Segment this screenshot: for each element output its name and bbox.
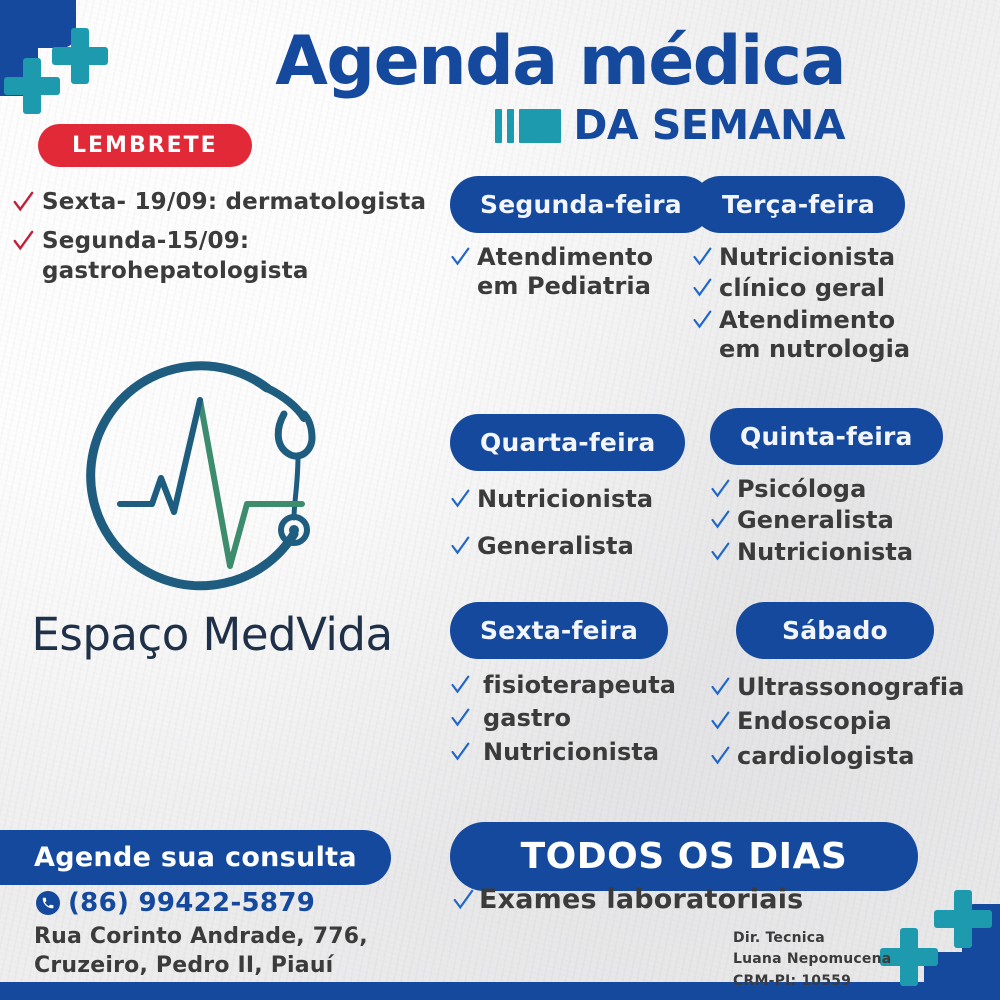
poster-canvas: Agenda médica DA SEMANA LEMBRETE Sexta- … bbox=[0, 0, 1000, 1000]
day-pill-terca: Terça-feira bbox=[692, 176, 905, 233]
blue-check-icon bbox=[450, 708, 470, 732]
list-item: clínico geral bbox=[692, 274, 932, 303]
list-item: Nutricionista bbox=[710, 538, 940, 567]
blue-check-icon bbox=[710, 479, 730, 503]
day-pill-quinta: Quinta-feira bbox=[710, 408, 943, 465]
day-items-terca: Nutricionista clínico geral Atendimento … bbox=[692, 243, 932, 364]
brand-logo: Espaço MedVida bbox=[12, 352, 412, 661]
stethoscope-heartbeat-circle-icon bbox=[62, 352, 362, 622]
list-item: Segunda-15/09: gastrohepatologista bbox=[12, 227, 462, 286]
blue-check-icon bbox=[710, 746, 730, 770]
day-card-quarta: Quarta-feira Nutricionista Generalista bbox=[450, 414, 680, 564]
service-text: Psicóloga bbox=[737, 475, 866, 504]
credit-line-2: Luana Nepomucena bbox=[733, 949, 891, 970]
blue-check-icon bbox=[710, 711, 730, 735]
service-text: gastro bbox=[477, 704, 571, 733]
everyday-pill: TODOS OS DIAS bbox=[450, 822, 918, 891]
credit-line-3: CRM-PI: 10559 bbox=[733, 971, 891, 992]
blue-check-icon bbox=[692, 247, 712, 271]
day-card-sabado: Sábado Ultrassonografia Endoscopia cardi… bbox=[710, 602, 965, 773]
medical-cross-icon bbox=[52, 28, 108, 84]
service-text: fisioterapeuta bbox=[477, 671, 676, 700]
service-text: Nutricionista bbox=[477, 485, 653, 514]
technical-director-credit: Dir. Tecnica Luana Nepomucena CRM-PI: 10… bbox=[733, 928, 891, 992]
list-item: Psicóloga bbox=[710, 475, 940, 504]
blue-check-icon bbox=[450, 536, 470, 560]
day-items-segunda: Atendimento em Pediatria bbox=[450, 243, 680, 302]
list-item: Sexta- 19/09: dermatologista bbox=[12, 188, 462, 217]
day-pill-sexta: Sexta-feira bbox=[450, 602, 668, 659]
phone-row[interactable]: (86) 99422-5879 bbox=[36, 888, 315, 918]
list-item: Atendimento em nutrologia bbox=[692, 306, 932, 365]
cta-agende-consulta[interactable]: Agende sua consulta bbox=[0, 830, 391, 885]
bar-blocks-icon bbox=[495, 109, 561, 143]
day-items-quinta: Psicóloga Generalista Nutricionista bbox=[710, 475, 940, 567]
red-check-icon bbox=[12, 191, 34, 217]
status-badge-lembrete: LEMBRETE bbox=[38, 124, 252, 167]
blue-check-icon bbox=[452, 889, 474, 915]
day-card-sexta: Sexta-feira fisioterapeuta gastro Nutric… bbox=[450, 602, 685, 769]
red-check-icon bbox=[12, 230, 34, 256]
phone-icon bbox=[36, 891, 60, 915]
list-item: Endoscopia bbox=[710, 707, 965, 736]
blue-check-icon bbox=[710, 677, 730, 701]
service-text: Nutricionista bbox=[477, 738, 659, 767]
list-item: Generalista bbox=[450, 532, 680, 561]
list-item: Ultrassonografia bbox=[710, 673, 965, 702]
reminder-text: Segunda-15/09: gastrohepatologista bbox=[42, 227, 462, 286]
service-text: Endoscopia bbox=[737, 707, 892, 736]
page-title: Agenda médica bbox=[205, 28, 845, 96]
medical-cross-icon bbox=[4, 58, 60, 114]
blue-check-icon bbox=[450, 742, 470, 766]
blue-check-icon bbox=[710, 542, 730, 566]
day-items-quarta: Nutricionista Generalista bbox=[450, 485, 680, 562]
list-item: gastro bbox=[450, 704, 685, 733]
service-text: Nutricionista bbox=[719, 243, 895, 272]
blue-check-icon bbox=[450, 247, 470, 271]
service-text: Generalista bbox=[737, 506, 894, 535]
blue-check-icon bbox=[692, 310, 712, 334]
everyday-item-text: Exames laboratoriais bbox=[479, 884, 803, 915]
list-item: Atendimento em Pediatria bbox=[450, 243, 680, 302]
list-item: cardiologista bbox=[710, 742, 965, 771]
list-item: Generalista bbox=[710, 506, 940, 535]
service-text: Nutricionista bbox=[737, 538, 913, 567]
address-line-1: Rua Corinto Andrade, 776, bbox=[34, 922, 368, 951]
blue-check-icon bbox=[450, 675, 470, 699]
day-pill-sabado: Sábado bbox=[736, 602, 934, 659]
page-subtitle: DA SEMANA bbox=[573, 105, 845, 146]
day-card-terca: Terça-feira Nutricionista clínico geral … bbox=[692, 176, 932, 366]
service-text: Atendimento em nutrologia bbox=[719, 306, 932, 365]
list-item: Nutricionista bbox=[450, 485, 680, 514]
blue-check-icon bbox=[692, 278, 712, 302]
list-item: Nutricionista bbox=[692, 243, 932, 272]
service-text: Ultrassonografia bbox=[737, 673, 965, 702]
phone-number: (86) 99422-5879 bbox=[68, 888, 315, 918]
logo-wordmark: Espaço MedVida bbox=[12, 608, 412, 661]
subtitle-row: DA SEMANA bbox=[380, 105, 845, 146]
day-pill-quarta: Quarta-feira bbox=[450, 414, 685, 471]
day-card-segunda: Segunda-feira Atendimento em Pediatria bbox=[450, 176, 680, 304]
reminder-text: Sexta- 19/09: dermatologista bbox=[42, 188, 426, 217]
address-line-2: Cruzeiro, Pedro II, Piauí bbox=[34, 951, 368, 980]
service-text: cardiologista bbox=[737, 742, 915, 771]
day-pill-segunda: Segunda-feira bbox=[450, 176, 712, 233]
list-item: fisioterapeuta bbox=[450, 671, 685, 700]
blue-check-icon bbox=[450, 489, 470, 513]
service-text: Generalista bbox=[477, 532, 634, 561]
day-card-quinta: Quinta-feira Psicóloga Generalista Nutri… bbox=[710, 408, 940, 569]
reminder-list: Sexta- 19/09: dermatologista Segunda-15/… bbox=[12, 188, 462, 296]
service-text: clínico geral bbox=[719, 274, 885, 303]
medical-cross-icon bbox=[934, 890, 992, 948]
service-text: Atendimento em Pediatria bbox=[477, 243, 680, 302]
list-item: Nutricionista bbox=[450, 738, 685, 767]
credit-line-1: Dir. Tecnica bbox=[733, 928, 891, 949]
address: Rua Corinto Andrade, 776, Cruzeiro, Pedr… bbox=[34, 922, 368, 980]
day-items-sabado: Ultrassonografia Endoscopia cardiologist… bbox=[710, 673, 965, 771]
blue-check-icon bbox=[710, 510, 730, 534]
everyday-item: Exames laboratoriais bbox=[452, 884, 803, 915]
day-items-sexta: fisioterapeuta gastro Nutricionista bbox=[450, 671, 685, 767]
